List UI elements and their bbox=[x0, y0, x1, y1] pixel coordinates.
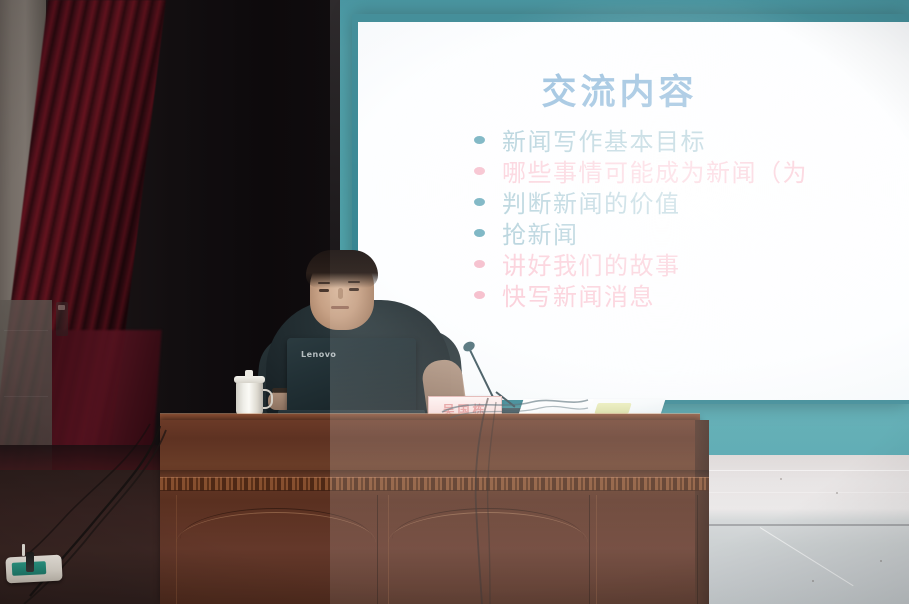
presenter-nose bbox=[338, 288, 343, 299]
power-plug-prong bbox=[22, 544, 25, 556]
slide-bullet-item: 抢新闻 bbox=[474, 217, 909, 248]
presentation-photo-scene: 交流内容 新闻写作基本目标 哪些事情可能成为新闻（为 判断新闻的价值 抢新闻 bbox=[0, 0, 909, 604]
slide-bullet-text: 新闻写作基本目标 bbox=[502, 122, 706, 157]
presenter-hair bbox=[306, 250, 378, 288]
slide-bullet-item: 新闻写作基本目标 bbox=[474, 124, 909, 155]
tea-mug-lid bbox=[234, 376, 265, 383]
podium-cable bbox=[440, 396, 560, 604]
slide-bullet-text: 哪些事情可能成为新闻（为 bbox=[502, 153, 808, 188]
slide-bullet-item: 判断新闻的价值 bbox=[474, 186, 909, 217]
podium-front-panel-right-edge bbox=[596, 495, 698, 604]
tea-mug-knob bbox=[245, 370, 253, 377]
bullet-dot-icon bbox=[474, 291, 485, 299]
slide-title: 交流内容 bbox=[358, 64, 909, 115]
presenter-mouth bbox=[331, 306, 349, 309]
slide-bullet-text: 判断新闻的价值 bbox=[502, 184, 681, 219]
slide-bullet-item: 哪些事情可能成为新闻（为 bbox=[474, 155, 909, 186]
slide-bullet-text: 讲好我们的故事 bbox=[502, 246, 681, 281]
bullet-dot-icon bbox=[474, 229, 485, 237]
slide-bullet-text: 快写新闻消息 bbox=[502, 277, 655, 312]
tea-mug bbox=[236, 381, 263, 415]
bullet-dot-icon bbox=[474, 198, 485, 206]
presenter-eyebrow-right bbox=[348, 281, 360, 283]
slide-bullet-list: 新闻写作基本目标 哪些事情可能成为新闻（为 判断新闻的价值 抢新闻 讲好我们的故… bbox=[474, 124, 909, 310]
presenter-eyebrow-left bbox=[318, 282, 330, 284]
presenter-eye-left bbox=[319, 289, 329, 292]
lenovo-laptop[interactable]: Lenovo bbox=[287, 338, 416, 414]
power-plug[interactable] bbox=[26, 552, 34, 572]
presenter-eye-right bbox=[349, 288, 359, 291]
bullet-dot-icon bbox=[474, 260, 485, 268]
slide-bullet-item: 讲好我们的故事 bbox=[474, 248, 909, 279]
bullet-dot-icon bbox=[474, 167, 485, 175]
bullet-dot-icon bbox=[474, 136, 485, 144]
wall-device-indicator-icon bbox=[58, 305, 65, 310]
lenovo-logo: Lenovo bbox=[301, 350, 336, 359]
slide-bullet-text: 抢新闻 bbox=[502, 215, 579, 250]
desk-cable-bundle bbox=[440, 392, 590, 422]
slide-bullet-item: 快写新闻消息 bbox=[474, 279, 909, 310]
